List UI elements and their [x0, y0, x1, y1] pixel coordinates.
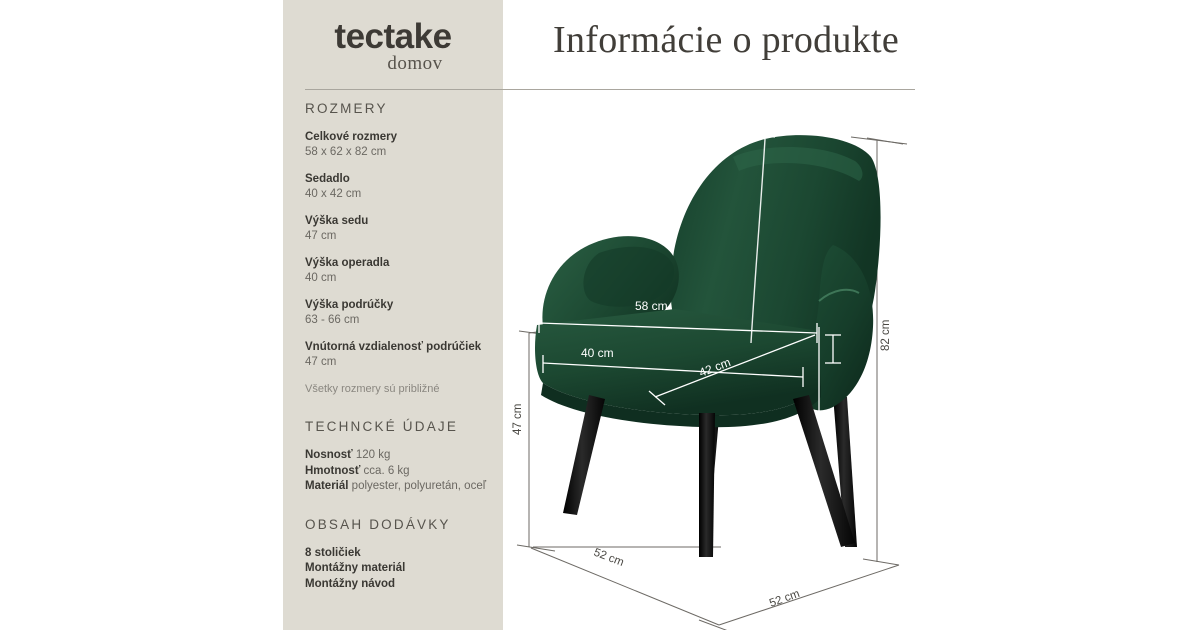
spec-value: 40 cm — [305, 271, 505, 286]
dim-label-total-height: 82 cm — [880, 320, 892, 351]
spec-item: Výška operadla 40 cm — [305, 256, 505, 286]
spec-label: Výška podrúčky — [305, 298, 505, 313]
product-info-sheet: tectake domov Informácie o produkte ROZM… — [0, 0, 1200, 630]
chair-dimension-drawing: 58 cm 40 cm 42 cm 82 cm 47 cm 52 cm 52 c… — [503, 95, 1200, 630]
header-divider — [305, 89, 915, 90]
spec-label: Celkové rozmery — [305, 130, 505, 145]
spec-item: Vnútorná vzdialenosť podrúčiek 47 cm — [305, 340, 505, 370]
dim-label-seat-width: 58 cm — [635, 299, 668, 313]
dim-label-seat-height: 47 cm — [512, 404, 524, 435]
spec-label: Sedadlo — [305, 172, 505, 187]
contents-item: Montážny materiál — [305, 561, 505, 577]
brand-name: tectake — [283, 18, 503, 56]
technical-value: polyester, polyuretán, oceľ — [352, 480, 486, 492]
spec-label: Vnútorná vzdialenosť podrúčiek — [305, 340, 505, 355]
technical-label: Hmotnosť — [305, 465, 360, 477]
spec-value: 58 x 62 x 82 cm — [305, 145, 505, 160]
specs-column: ROZMERY Celkové rozmery 58 x 62 x 82 cm … — [305, 101, 505, 592]
spec-item: Výška podrúčky 63 - 66 cm — [305, 298, 505, 328]
spec-value: 47 cm — [305, 355, 505, 370]
spec-item: Sedadlo 40 x 42 cm — [305, 172, 505, 202]
spec-label: Výška operadla — [305, 256, 505, 271]
dim-label-floor-right: 52 cm — [768, 588, 802, 610]
dim-label-seat-depth-front: 40 cm — [581, 346, 614, 360]
page-title: Informácie o produkte — [553, 18, 899, 62]
spec-value: 40 x 42 cm — [305, 187, 505, 202]
dimensions-note: Všetky rozmery sú približné — [305, 382, 505, 397]
technical-value: 120 kg — [356, 449, 391, 461]
technical-label: Nosnosť — [305, 449, 353, 461]
brand-logo: tectake domov — [283, 18, 503, 80]
spec-item: Celkové rozmery 58 x 62 x 82 cm — [305, 130, 505, 160]
dim-label-floor-left: 52 cm — [592, 547, 626, 569]
chair-illustration: 58 cm 40 cm 42 cm 82 cm 47 cm 52 cm 52 c… — [503, 95, 1200, 630]
technical-row: Materiál polyester, polyuretán, oceľ — [305, 479, 505, 495]
section-heading-dimensions: ROZMERY — [305, 101, 505, 116]
technical-row: Nosnosť 120 kg — [305, 448, 505, 464]
spec-value: 47 cm — [305, 229, 505, 244]
contents-item: 8 stoličiek — [305, 546, 505, 562]
chair-leg-front-left — [563, 395, 605, 515]
spec-value: 63 - 66 cm — [305, 313, 505, 328]
technical-row: Hmotnosť cca. 6 kg — [305, 464, 505, 480]
section-heading-contents: OBSAH DODÁVKY — [305, 517, 505, 532]
brand-subtitle: domov — [283, 54, 503, 74]
chair-leg-front-center — [699, 413, 715, 557]
spec-item: Výška sedu 47 cm — [305, 214, 505, 244]
contents-item: Montážny návod — [305, 577, 505, 593]
spec-label: Výška sedu — [305, 214, 505, 229]
technical-value: cca. 6 kg — [364, 465, 410, 477]
technical-label: Materiál — [305, 480, 348, 492]
section-heading-technical: TECHNCKÉ ÚDAJE — [305, 419, 505, 434]
